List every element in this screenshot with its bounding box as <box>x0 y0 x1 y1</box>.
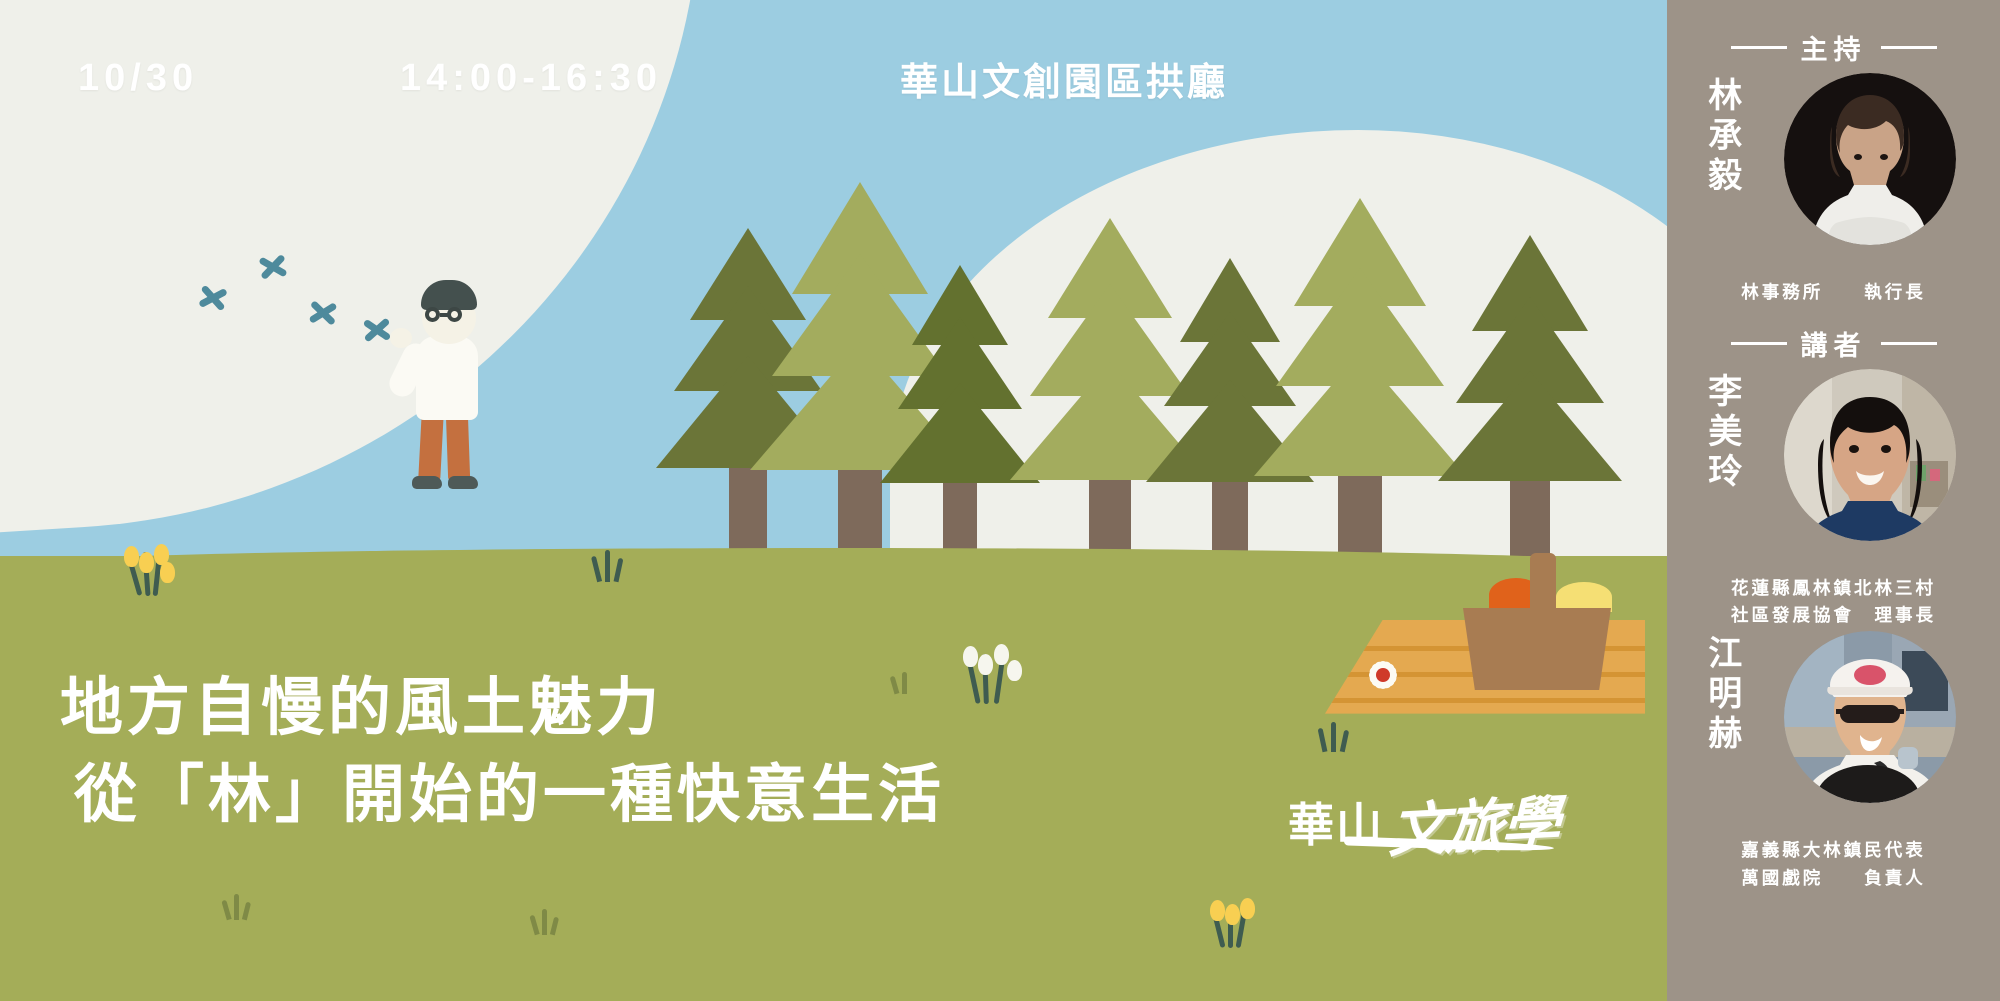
host-section-label: 主持 <box>1667 28 2000 67</box>
flower-bud <box>994 644 1009 665</box>
speaker-label-text: 講者 <box>1801 324 1867 363</box>
host-name: 林承毅 <box>1703 77 1739 197</box>
grass-blade <box>542 909 547 935</box>
flower-bud <box>124 546 139 567</box>
host-card[interactable]: 林承毅 <box>1667 73 2000 273</box>
rule-left <box>1731 342 1787 345</box>
brand-logo: 華山 文旅學 <box>1288 780 1558 864</box>
brand-logo-suffix: 文旅學 <box>1387 776 1560 869</box>
avatar <box>1784 631 1956 803</box>
grass-blade <box>221 900 231 921</box>
illustration-scene: 10/30 14:00-16:30 華山文創園區拱廳 地方自慢的風土魅力 從「林… <box>0 0 1667 1001</box>
speaker-1-title-line-1: 花蓮縣鳳林鎮北林三村 <box>1667 575 2000 602</box>
rule-right <box>1881 342 1937 345</box>
person-hair <box>421 280 477 310</box>
flower-bud <box>139 552 154 573</box>
person-shoe-right <box>448 476 478 489</box>
tree-tier <box>1438 371 1622 481</box>
basket-handle <box>1530 553 1556 613</box>
speaker-2-name: 江明赫 <box>1703 635 1739 755</box>
flower-group-yellow <box>128 548 176 596</box>
glasses-bridge <box>440 313 448 317</box>
main-title-block: 地方自慢的風土魅力 從「林」開始的一種快意生活 <box>60 665 1260 839</box>
speaker-1-title-line-2: 社區發展協會 理事長 <box>1667 602 2000 629</box>
event-date: 10/30 <box>78 57 198 100</box>
person-figure <box>390 280 500 490</box>
person-body <box>416 336 478 420</box>
avatar <box>1784 369 1956 541</box>
speaker-2-title-line-1: 嘉義縣大林鎮民代表 <box>1667 837 2000 864</box>
glasses-icon <box>425 307 440 322</box>
flower-bud <box>160 562 175 583</box>
host-title-line-1: 林事務所 執行長 <box>1667 279 2000 306</box>
flower-group-yellow <box>1212 900 1260 948</box>
daisy-center <box>1376 668 1390 682</box>
grass-blade <box>614 558 624 583</box>
glasses-icon <box>447 307 462 322</box>
tree <box>1430 235 1630 575</box>
grass-blade <box>591 556 602 582</box>
person-leg-left <box>418 411 444 480</box>
grass-blade <box>234 894 239 920</box>
rule-left <box>1731 46 1787 49</box>
bird-icon <box>361 314 393 346</box>
host-label-text: 主持 <box>1801 28 1867 67</box>
flower-bud <box>1240 898 1255 919</box>
person-leg-right <box>446 412 470 481</box>
grass-blade <box>529 915 539 936</box>
grass-blade <box>550 917 559 936</box>
flower-bud <box>1225 904 1240 925</box>
flower-bud <box>963 646 978 667</box>
speaker-card-2[interactable]: 江明赫 <box>1667 631 2000 831</box>
speaker-2-title-line-2: 萬國戲院 負責人 <box>1667 865 2000 892</box>
title-line-2: 從「林」開始的一種快意生活 <box>74 752 1260 839</box>
event-header: 10/30 14:00-16:30 華山文創園區拱廳 <box>0 48 1667 108</box>
daisy-flower <box>1353 645 1413 705</box>
speaker-section-label: 講者 <box>1667 324 2000 363</box>
person-shoe-left <box>412 476 442 489</box>
grass-blade <box>242 902 251 921</box>
rule-right <box>1881 46 1937 49</box>
grass-tuft <box>222 890 256 920</box>
speakers-sidebar: 主持 林承毅 <box>1667 0 2000 1001</box>
event-venue: 華山文創園區拱廳 <box>900 51 1228 106</box>
avatar <box>1784 73 1956 245</box>
bird-icon <box>198 283 228 313</box>
title-line-1: 地方自慢的風土魅力 <box>60 665 1260 752</box>
flower-bud <box>1210 900 1225 921</box>
picnic-basket <box>1463 608 1611 690</box>
speaker-card-1[interactable]: 李美玲 <box>1667 369 2000 569</box>
event-time: 14:00-16:30 <box>400 57 662 100</box>
bird-icon <box>309 299 338 328</box>
person-hand <box>390 328 412 348</box>
bird-icon <box>256 250 290 284</box>
grass-tuft <box>592 548 632 582</box>
grass-tuft <box>530 905 564 935</box>
grass-blade <box>605 550 610 582</box>
fruit-yellow <box>1556 582 1612 612</box>
speaker-1-name: 李美玲 <box>1703 373 1739 493</box>
event-poster: 10/30 14:00-16:30 華山文創園區拱廳 地方自慢的風土魅力 從「林… <box>0 0 2000 1001</box>
